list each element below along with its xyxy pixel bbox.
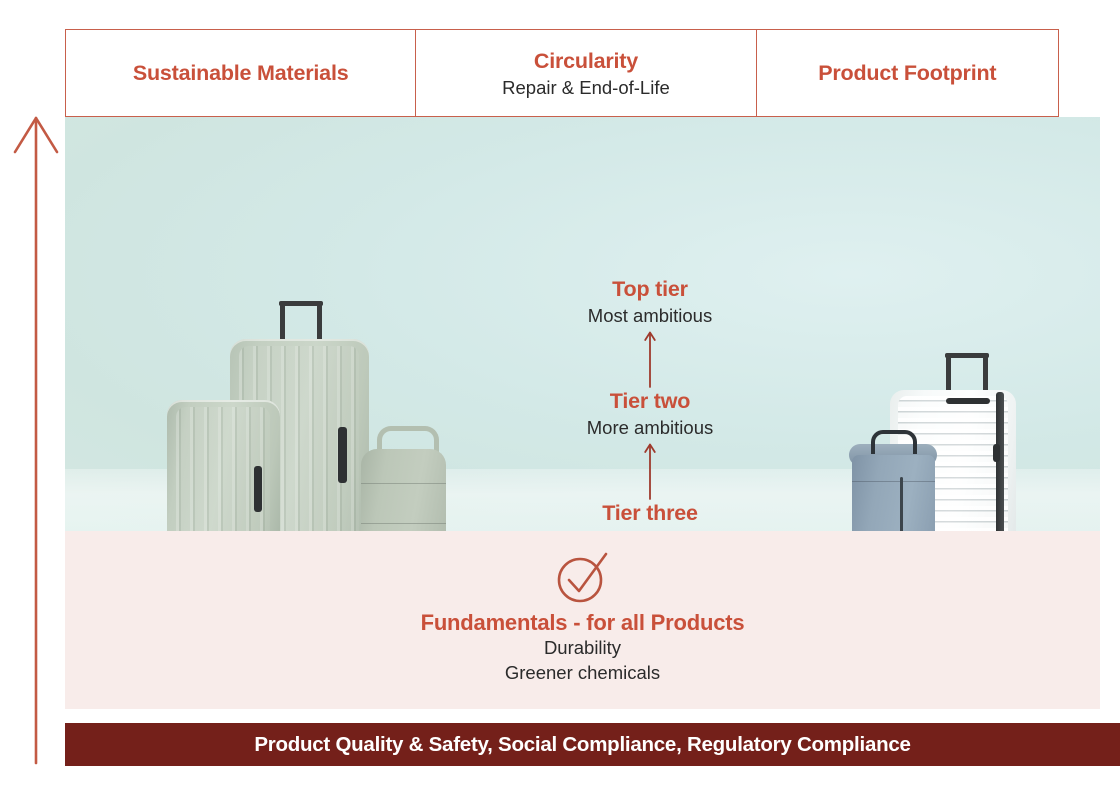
product-photo-band: Top tier Most ambitious Tier two More am…: [65, 117, 1100, 531]
brand-tag: [946, 398, 990, 404]
tier-title: Tier three: [505, 501, 795, 527]
compliance-bar-text: Product Quality & Safety, Social Complia…: [254, 733, 910, 757]
compliance-bar: Product Quality & Safety, Social Complia…: [65, 723, 1120, 766]
blue-backpack: [852, 455, 935, 531]
fundamentals-line: Greener chemicals: [65, 661, 1100, 686]
tier-subtitle: More ambitious: [505, 416, 795, 439]
pillar-circularity[interactable]: Circularity Repair & End-of-Life: [415, 30, 755, 116]
tier-two[interactable]: Tier two More ambitious: [505, 389, 795, 439]
check-circle-icon: [554, 549, 612, 607]
fundamentals-title: Fundamentals - for all Products: [65, 610, 1100, 636]
brand-tag: [338, 427, 347, 483]
sage-backpack: [361, 449, 446, 531]
tier-ladder: Top tier Most ambitious Tier two More am…: [505, 277, 795, 531]
sage-small-suitcase: [167, 400, 280, 531]
up-arrow-icon: [642, 327, 658, 389]
pillar-product-footprint[interactable]: Product Footprint: [756, 30, 1058, 116]
suitcase-lock: [993, 444, 1000, 462]
tier-subtitle: Most ambitious: [505, 304, 795, 327]
fundamentals-band: Fundamentals - for all Products Durabili…: [65, 531, 1100, 709]
brand-tag: [254, 466, 262, 512]
tier-top[interactable]: Top tier Most ambitious: [505, 277, 795, 327]
sustainability-framework-figure: Sustainable Materials Circularity Repair…: [0, 0, 1120, 799]
ambition-arrow: [10, 112, 62, 767]
up-arrow-icon: [642, 439, 658, 501]
pillar-header-row: Sustainable Materials Circularity Repair…: [65, 29, 1059, 117]
fundamentals-text: Fundamentals - for all Products Durabili…: [65, 610, 1100, 686]
fundamentals-line: Durability: [65, 636, 1100, 661]
tier-title: Top tier: [505, 277, 795, 303]
pillar-subtitle: Repair & End-of-Life: [502, 76, 670, 99]
pillar-title: Sustainable Materials: [133, 61, 349, 86]
pillar-title: Circularity: [534, 49, 638, 74]
tier-title: Tier two: [505, 389, 795, 415]
tier-three[interactable]: Tier three Essential: [505, 501, 795, 531]
pillar-title: Product Footprint: [818, 61, 996, 86]
backpack-handle: [871, 430, 917, 454]
pillar-sustainable-materials[interactable]: Sustainable Materials: [66, 30, 415, 116]
suitcase-handle: [945, 353, 989, 395]
